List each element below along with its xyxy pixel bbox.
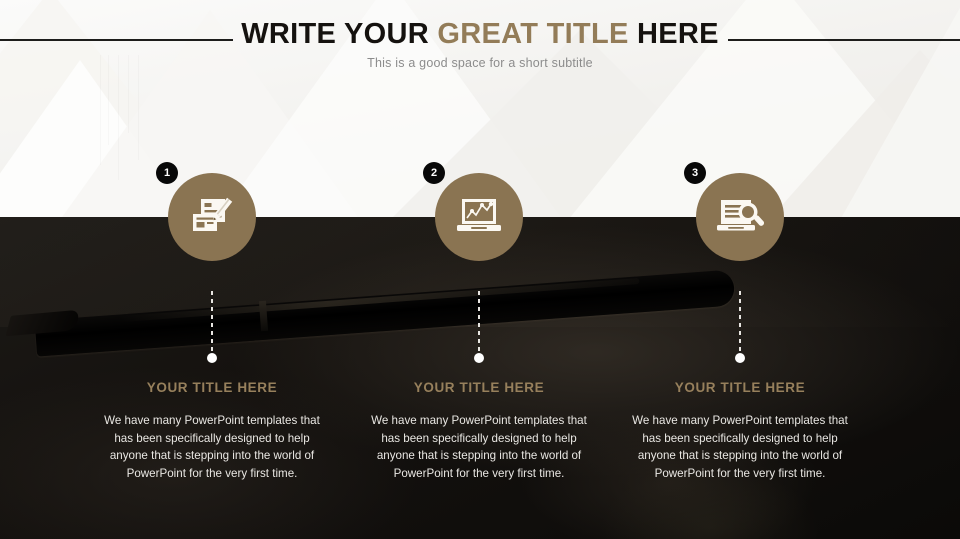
slide-header: WRITE YOUR GREAT TITLE HERE This is a go… [0, 0, 960, 90]
column-title: YOUR TITLE HERE [349, 380, 609, 395]
column-body-text: We have many PowerPoint templates that h… [369, 412, 589, 482]
document-pen-icon [189, 195, 235, 239]
dashed-connector-line [211, 291, 213, 355]
step-number-badge: 3 [684, 162, 706, 184]
page-subtitle: This is a good space for a short subtitl… [0, 56, 960, 70]
icon-circle[interactable] [696, 173, 784, 261]
title-segment-accent: GREAT TITLE [437, 18, 628, 50]
laptop-chart-icon [455, 196, 503, 238]
icon-circle[interactable] [168, 173, 256, 261]
column-body-text: We have many PowerPoint templates that h… [630, 412, 850, 482]
presentation-slide: WRITE YOUR GREAT TITLE HERE This is a go… [0, 0, 960, 539]
column-title: YOUR TITLE HERE [82, 380, 342, 395]
connector-end-dot [474, 353, 484, 363]
column-title: YOUR TITLE HERE [610, 380, 870, 395]
step-number-badge: 1 [156, 162, 178, 184]
title-segment-1: WRITE YOUR [241, 18, 437, 50]
column-body-text: We have many PowerPoint templates that h… [102, 412, 322, 482]
connector-end-dot [735, 353, 745, 363]
step-number-badge: 2 [423, 162, 445, 184]
laptop-search-icon [715, 196, 765, 238]
page-title: WRITE YOUR GREAT TITLE HERE [0, 20, 960, 49]
icon-circle[interactable] [435, 173, 523, 261]
title-segment-2: HERE [629, 18, 719, 50]
connector-end-dot [207, 353, 217, 363]
dashed-connector-line [739, 291, 741, 355]
dashed-connector-line [478, 291, 480, 355]
